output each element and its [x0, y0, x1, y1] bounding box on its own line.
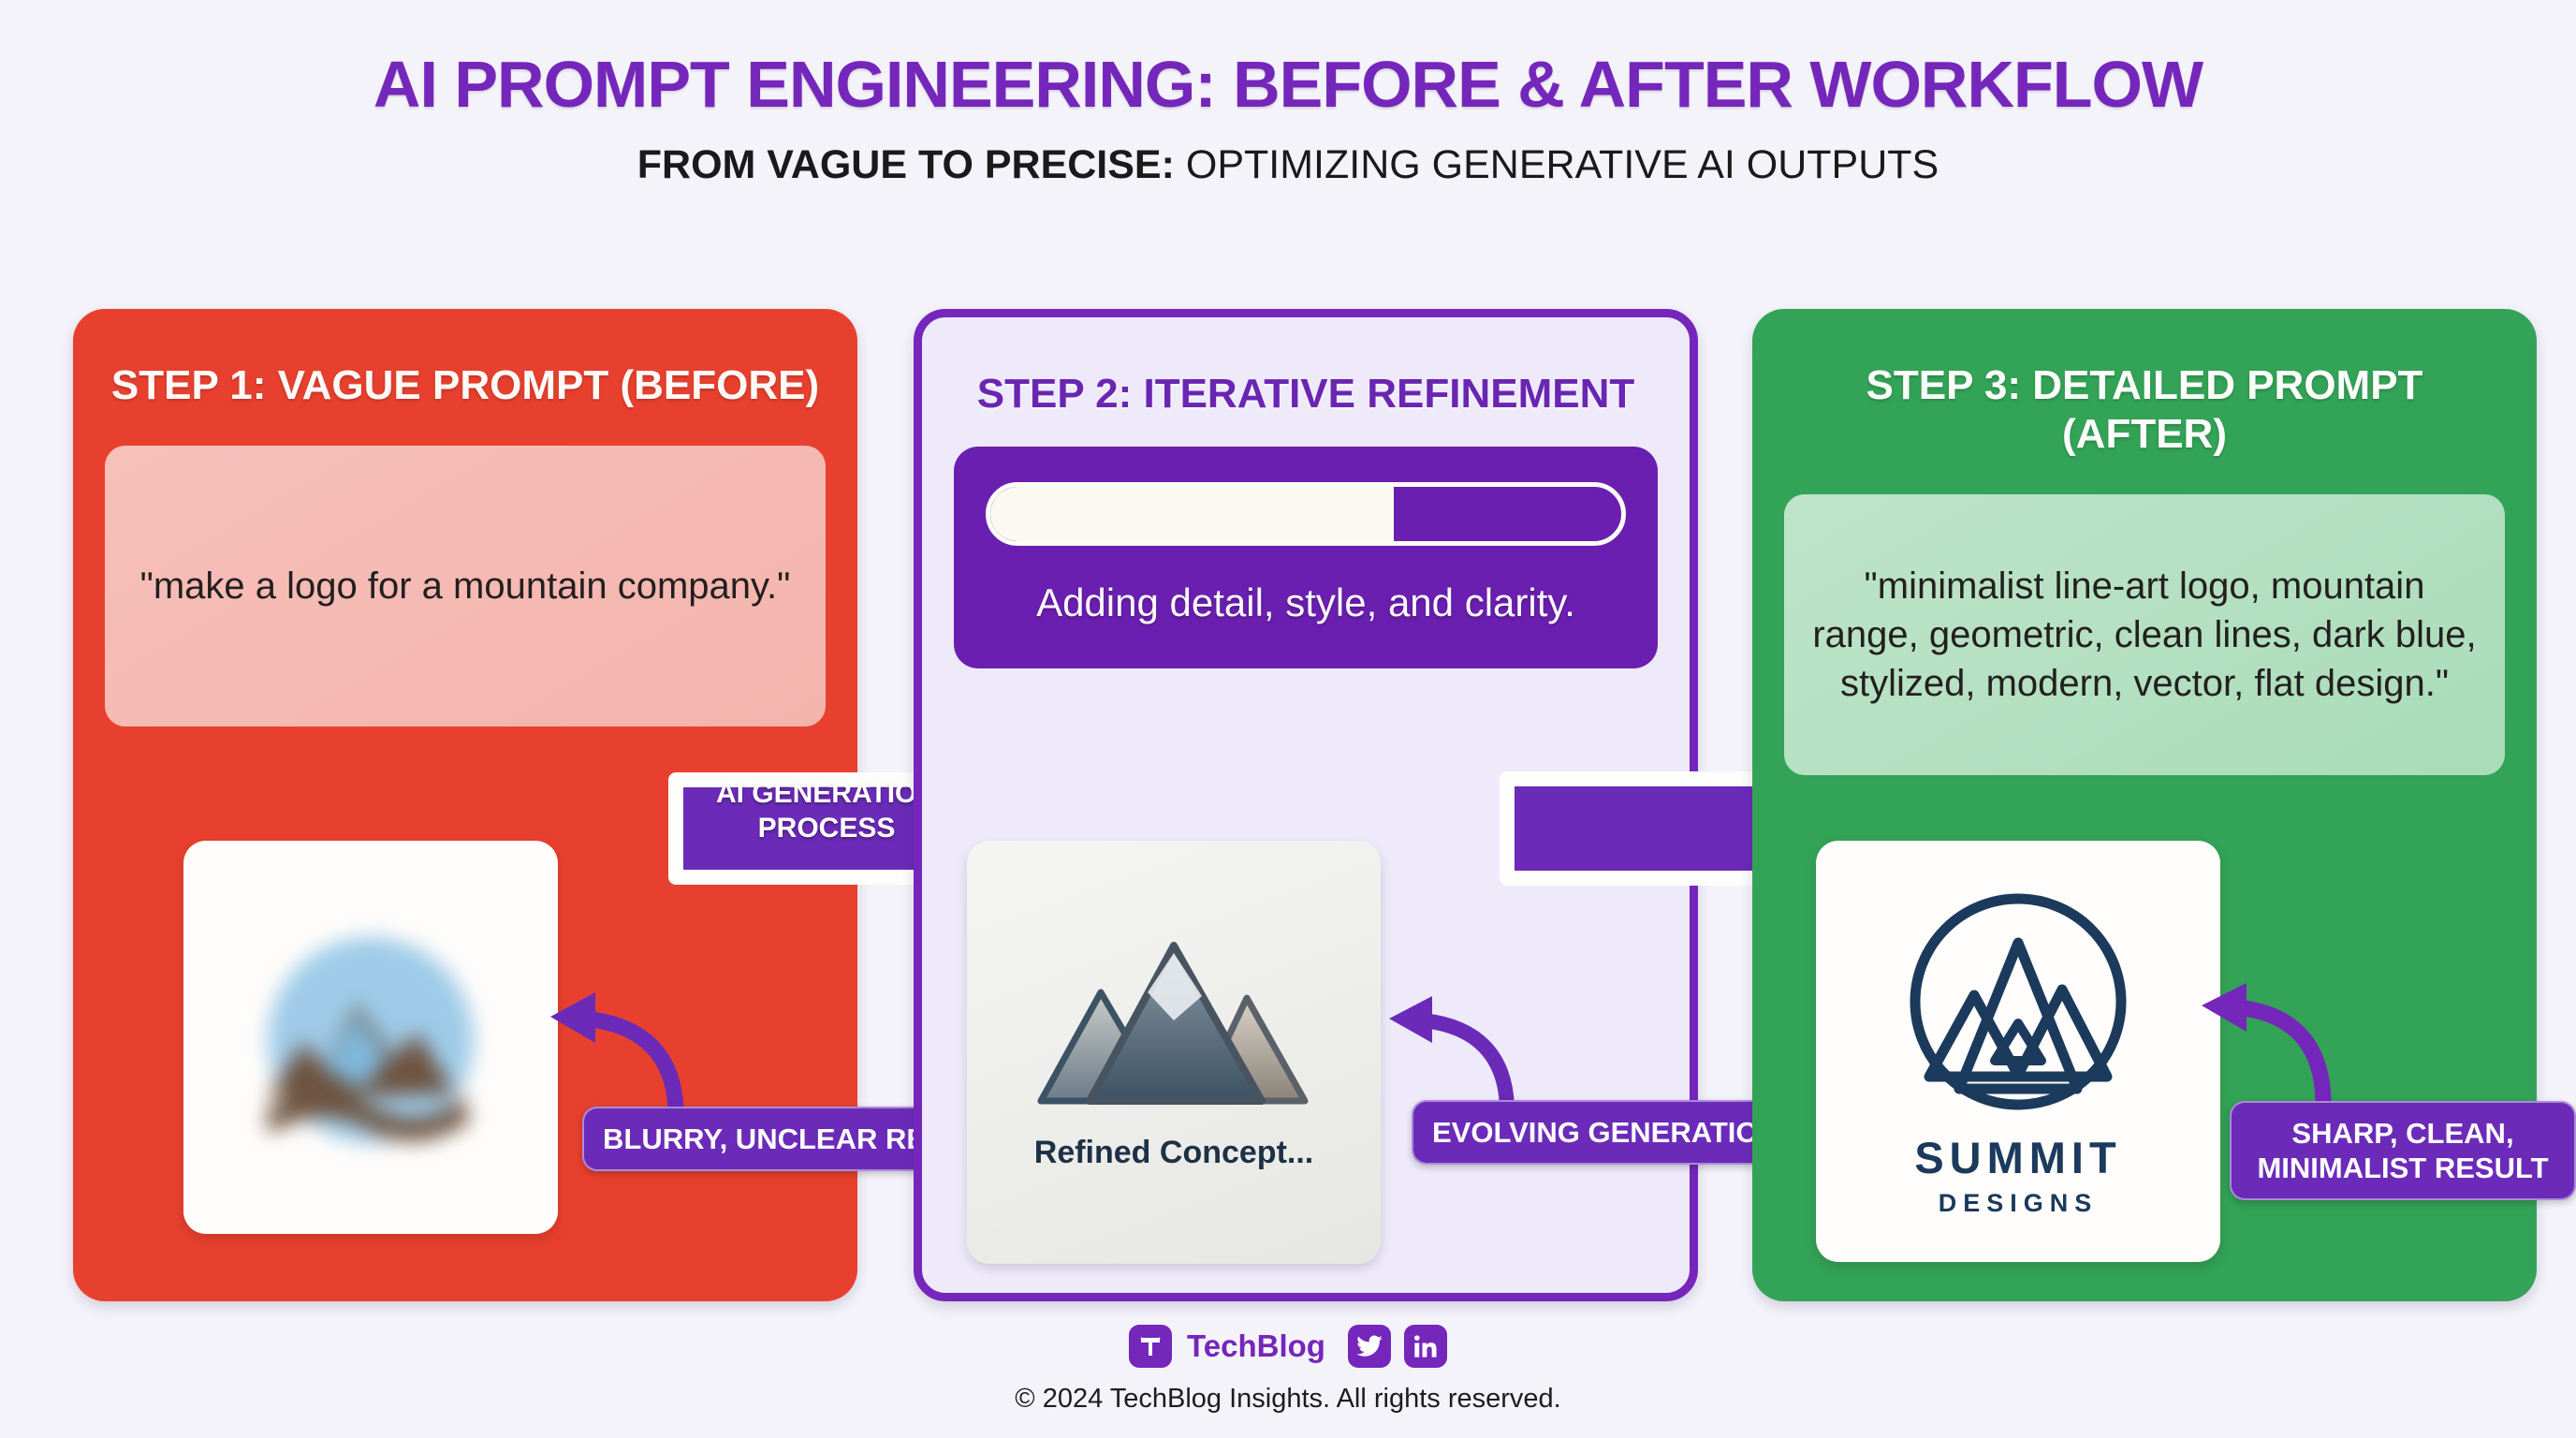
step-2-callout: EVOLVING GENERATION	[1412, 1100, 1800, 1165]
step-2-image-caption: Refined Concept...	[1034, 1135, 1313, 1171]
step-1-output-card	[183, 841, 558, 1234]
page-title: AI PROMPT ENGINEERING: BEFORE & AFTER WO…	[0, 51, 2576, 117]
page-subtitle: FROM VAGUE TO PRECISE: OPTIMIZING GENERA…	[0, 145, 2576, 185]
header: AI PROMPT ENGINEERING: BEFORE & AFTER WO…	[0, 0, 2576, 243]
step-3-callout: SHARP, CLEAN, MINIMALIST RESULT	[2230, 1101, 2576, 1200]
step-3-output-card: SUMMIT DESIGNS	[1816, 841, 2220, 1262]
step-2-output-card: Refined Concept...	[967, 841, 1381, 1264]
refinement-progress-bar[interactable]	[986, 482, 1626, 546]
step-2-title: STEP 2: ITERATIVE REFINEMENT	[954, 370, 1658, 418]
step-2-callout-badge: EVOLVING GENERATION	[1412, 1100, 1800, 1165]
footer: TechBlog © 2024 TechBlog Insights. All r…	[0, 1325, 2576, 1415]
step-3-callout-arrow-icon	[2196, 981, 2341, 1101]
step-1-prompt-box: "make a logo for a mountain company."	[105, 446, 826, 726]
step-2-callout-arrow-icon	[1383, 994, 1524, 1108]
footer-brand-row: TechBlog	[0, 1325, 2576, 1368]
brand-name: TechBlog	[1187, 1328, 1325, 1364]
step-3-callout-badge: SHARP, CLEAN, MINIMALIST RESULT	[2230, 1101, 2576, 1200]
step-1-callout-arrow-icon	[543, 990, 693, 1112]
step-1-title: STEP 1: VAGUE PROMPT (BEFORE)	[105, 361, 826, 410]
refined-mountain-logo-icon	[1033, 934, 1314, 1112]
step-2-refine-text: Adding detail, style, and clarity.	[986, 578, 1626, 629]
techblog-logo-icon	[1129, 1325, 1172, 1368]
summit-logo-secondary-text: DESIGNS	[1939, 1189, 2099, 1218]
step-1-prompt-text: "make a logo for a mountain company."	[140, 562, 791, 610]
linkedin-icon[interactable]	[1404, 1325, 1447, 1368]
subtitle-rest: OPTIMIZING GENERATIVE AI OUTPUTS	[1175, 142, 1939, 187]
subtitle-strong: FROM VAGUE TO PRECISE:	[637, 142, 1175, 187]
step-3-title: STEP 3: DETAILED PROMPT (AFTER)	[1784, 361, 2505, 459]
refinement-progress-fill	[990, 487, 1394, 541]
step-3-prompt-text: "minimalist line-art logo, mountain rang…	[1810, 562, 2479, 708]
blurry-mountain-logo-icon	[230, 902, 511, 1173]
summit-logo-primary-text: SUMMIT	[1914, 1132, 2121, 1183]
summit-designs-logo-icon	[1901, 885, 2135, 1119]
step-3-prompt-box: "minimalist line-art logo, mountain rang…	[1784, 494, 2505, 775]
step-2-refine-card: Adding detail, style, and clarity.	[954, 447, 1658, 668]
copyright-text: © 2024 TechBlog Insights. All rights res…	[0, 1384, 2576, 1415]
twitter-icon[interactable]	[1348, 1325, 1391, 1368]
